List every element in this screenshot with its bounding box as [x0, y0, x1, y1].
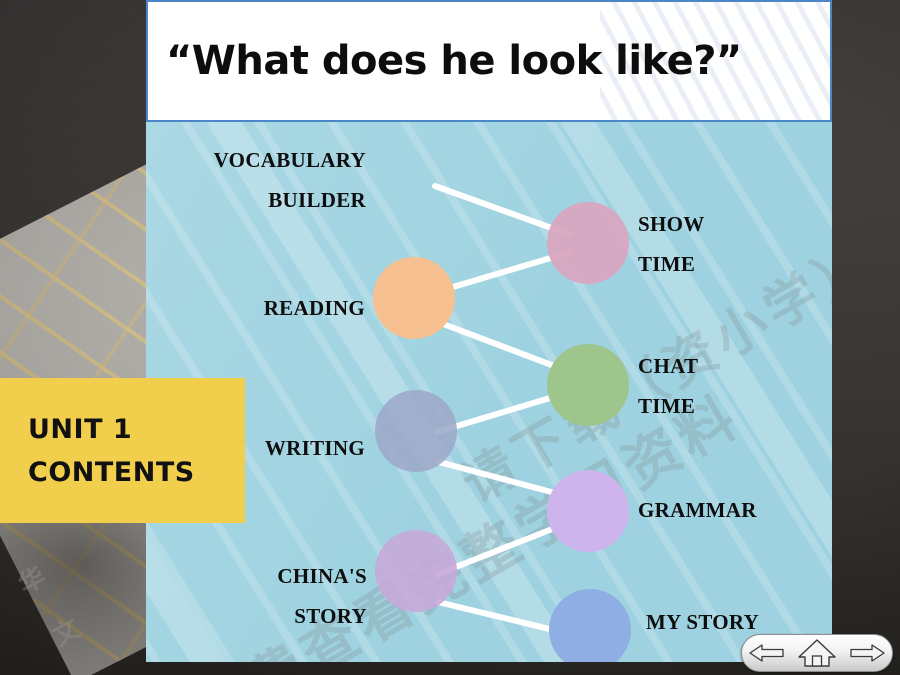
node-label-line: STORY [294, 604, 367, 628]
line-reading-to-chat-time [438, 322, 570, 372]
forward-button[interactable] [846, 637, 888, 669]
node-circle-reading[interactable] [375, 390, 457, 472]
contents-tab-unit: UNIT 1 [28, 408, 245, 451]
forward-arrow-icon [848, 641, 886, 665]
node-circle-chat-time[interactable] [547, 344, 629, 426]
node-label-grammar: GRAMMAR [638, 490, 757, 530]
page-title: “What does he look like?” [166, 38, 742, 84]
node-circle-vocabulary-builder[interactable] [373, 257, 455, 339]
node-label-chat-time: CHAT TIME [638, 346, 698, 426]
home-button[interactable] [796, 637, 838, 669]
back-button[interactable] [746, 637, 788, 669]
node-label-line: CHINA'S [277, 564, 367, 588]
node-label-line: VOCABULARY [214, 148, 366, 172]
node-label-line: BUILDER [268, 188, 366, 212]
node-label-line: WRITING [265, 436, 365, 460]
node-label-line: CHAT [638, 354, 698, 378]
node-label-line: TIME [638, 394, 695, 418]
contents-tab: UNIT 1 CONTENTS [0, 378, 245, 523]
contents-panel: 免费查看完整学习资料 请下载（资小学）APP [146, 122, 832, 662]
node-circle-show-time[interactable] [547, 202, 629, 284]
node-label-line: READING [264, 296, 365, 320]
slide-stage: 华 文 “What does he look like?” 免费查看完整学习资料… [0, 0, 900, 675]
node-circle-my-story[interactable] [549, 589, 631, 662]
node-label-show-time: SHOW TIME [638, 204, 705, 284]
node-circle-writing[interactable] [375, 530, 457, 612]
navigation-bar[interactable] [741, 634, 893, 672]
contents-tab-label: CONTENTS [28, 451, 245, 494]
node-label-line: MY STORY [646, 610, 759, 634]
node-circle-grammar[interactable] [547, 470, 629, 552]
line-chinas-story-to-grammar [438, 522, 570, 574]
node-label-reading: READING [146, 288, 365, 328]
node-label-line: TIME [638, 252, 695, 276]
back-arrow-icon [748, 641, 786, 665]
node-label-chinas-story: CHINA'S STORY [146, 556, 367, 636]
title-card: “What does he look like?” [146, 0, 832, 122]
node-label-line: SHOW [638, 212, 705, 236]
node-label-line: GRAMMAR [638, 498, 757, 522]
node-label-my-story: MY STORY [646, 602, 759, 642]
node-label-vocabulary-builder: VOCABULARY BUILDER [146, 140, 366, 220]
home-icon [797, 638, 837, 668]
